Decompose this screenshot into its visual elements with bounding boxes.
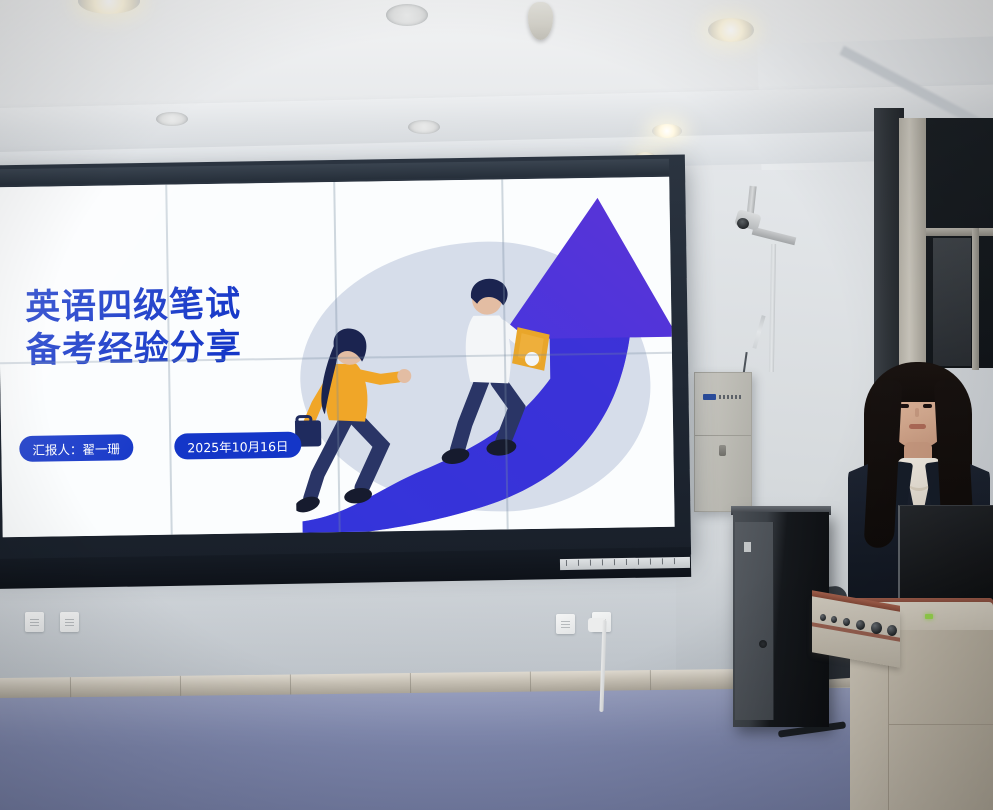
slide-title-line-1: 英语四级笔试 xyxy=(25,284,242,330)
window-frame-vertical xyxy=(972,228,979,370)
podium-knob[interactable] xyxy=(831,616,837,623)
presenter-eye-right xyxy=(923,404,932,408)
man-back-leg xyxy=(456,380,483,450)
slide-title-line-2: 备考经验分享 xyxy=(25,326,242,372)
date-badge: 2025年10月16日 xyxy=(174,432,302,460)
measuring-scale xyxy=(560,557,690,570)
illustration-figure-woman xyxy=(293,320,436,522)
presenter-eye-left xyxy=(900,404,909,408)
ceiling-light-icon xyxy=(386,4,428,26)
cabinet-logo-icon xyxy=(703,393,743,400)
man-shoe-back xyxy=(440,446,470,466)
rack-label xyxy=(744,542,751,552)
rack-door[interactable] xyxy=(735,522,774,720)
floor-sheen xyxy=(0,688,993,748)
cabinet-lock-icon[interactable] xyxy=(719,445,726,456)
ceiling-light-icon xyxy=(652,124,682,138)
wall-outlet-left-1[interactable] xyxy=(25,612,44,632)
lcd-video-wall[interactable]: 英语四级笔试 备考经验分享 汇报人：翟一珊 2025年10月16日 xyxy=(0,155,691,566)
presenter-laptop[interactable] xyxy=(898,505,993,606)
podium-knob[interactable] xyxy=(843,618,850,626)
podium-panel-seam xyxy=(888,724,993,725)
man-front-leg xyxy=(498,381,517,441)
podium-knob[interactable] xyxy=(871,622,882,634)
video-wall-display-area[interactable]: 英语四级笔试 备考经验分享 汇报人：翟一珊 2025年10月16日 xyxy=(0,177,675,538)
lecture-room-photo: 英语四级笔试 备考经验分享 汇报人：翟一珊 2025年10月16日 xyxy=(0,0,993,810)
podium-status-led xyxy=(925,614,933,619)
presenter-nose xyxy=(915,408,919,417)
podium-knob[interactable] xyxy=(887,625,897,636)
rack-lock-icon[interactable] xyxy=(759,640,767,648)
ceiling-light-icon xyxy=(708,18,754,42)
cabinet-door-seam xyxy=(695,435,751,436)
woman-front-leg xyxy=(357,419,382,487)
wall-outlet-center[interactable] xyxy=(556,614,575,634)
equipment-wall-cabinet[interactable] xyxy=(694,372,752,512)
podium-knob[interactable] xyxy=(820,614,826,621)
podium-knob[interactable] xyxy=(856,620,865,630)
wall-outlet-left-2[interactable] xyxy=(60,612,79,632)
ceiling-light-icon xyxy=(156,112,188,126)
presenter-mouth xyxy=(909,424,926,429)
window-pane xyxy=(933,238,971,366)
woman-arm-front xyxy=(354,373,398,380)
window-frame-horizontal xyxy=(926,228,993,236)
ceiling-light-icon xyxy=(408,120,440,134)
presenter-badge: 汇报人：翟一珊 xyxy=(19,434,133,462)
man-shoe-front xyxy=(486,438,518,457)
